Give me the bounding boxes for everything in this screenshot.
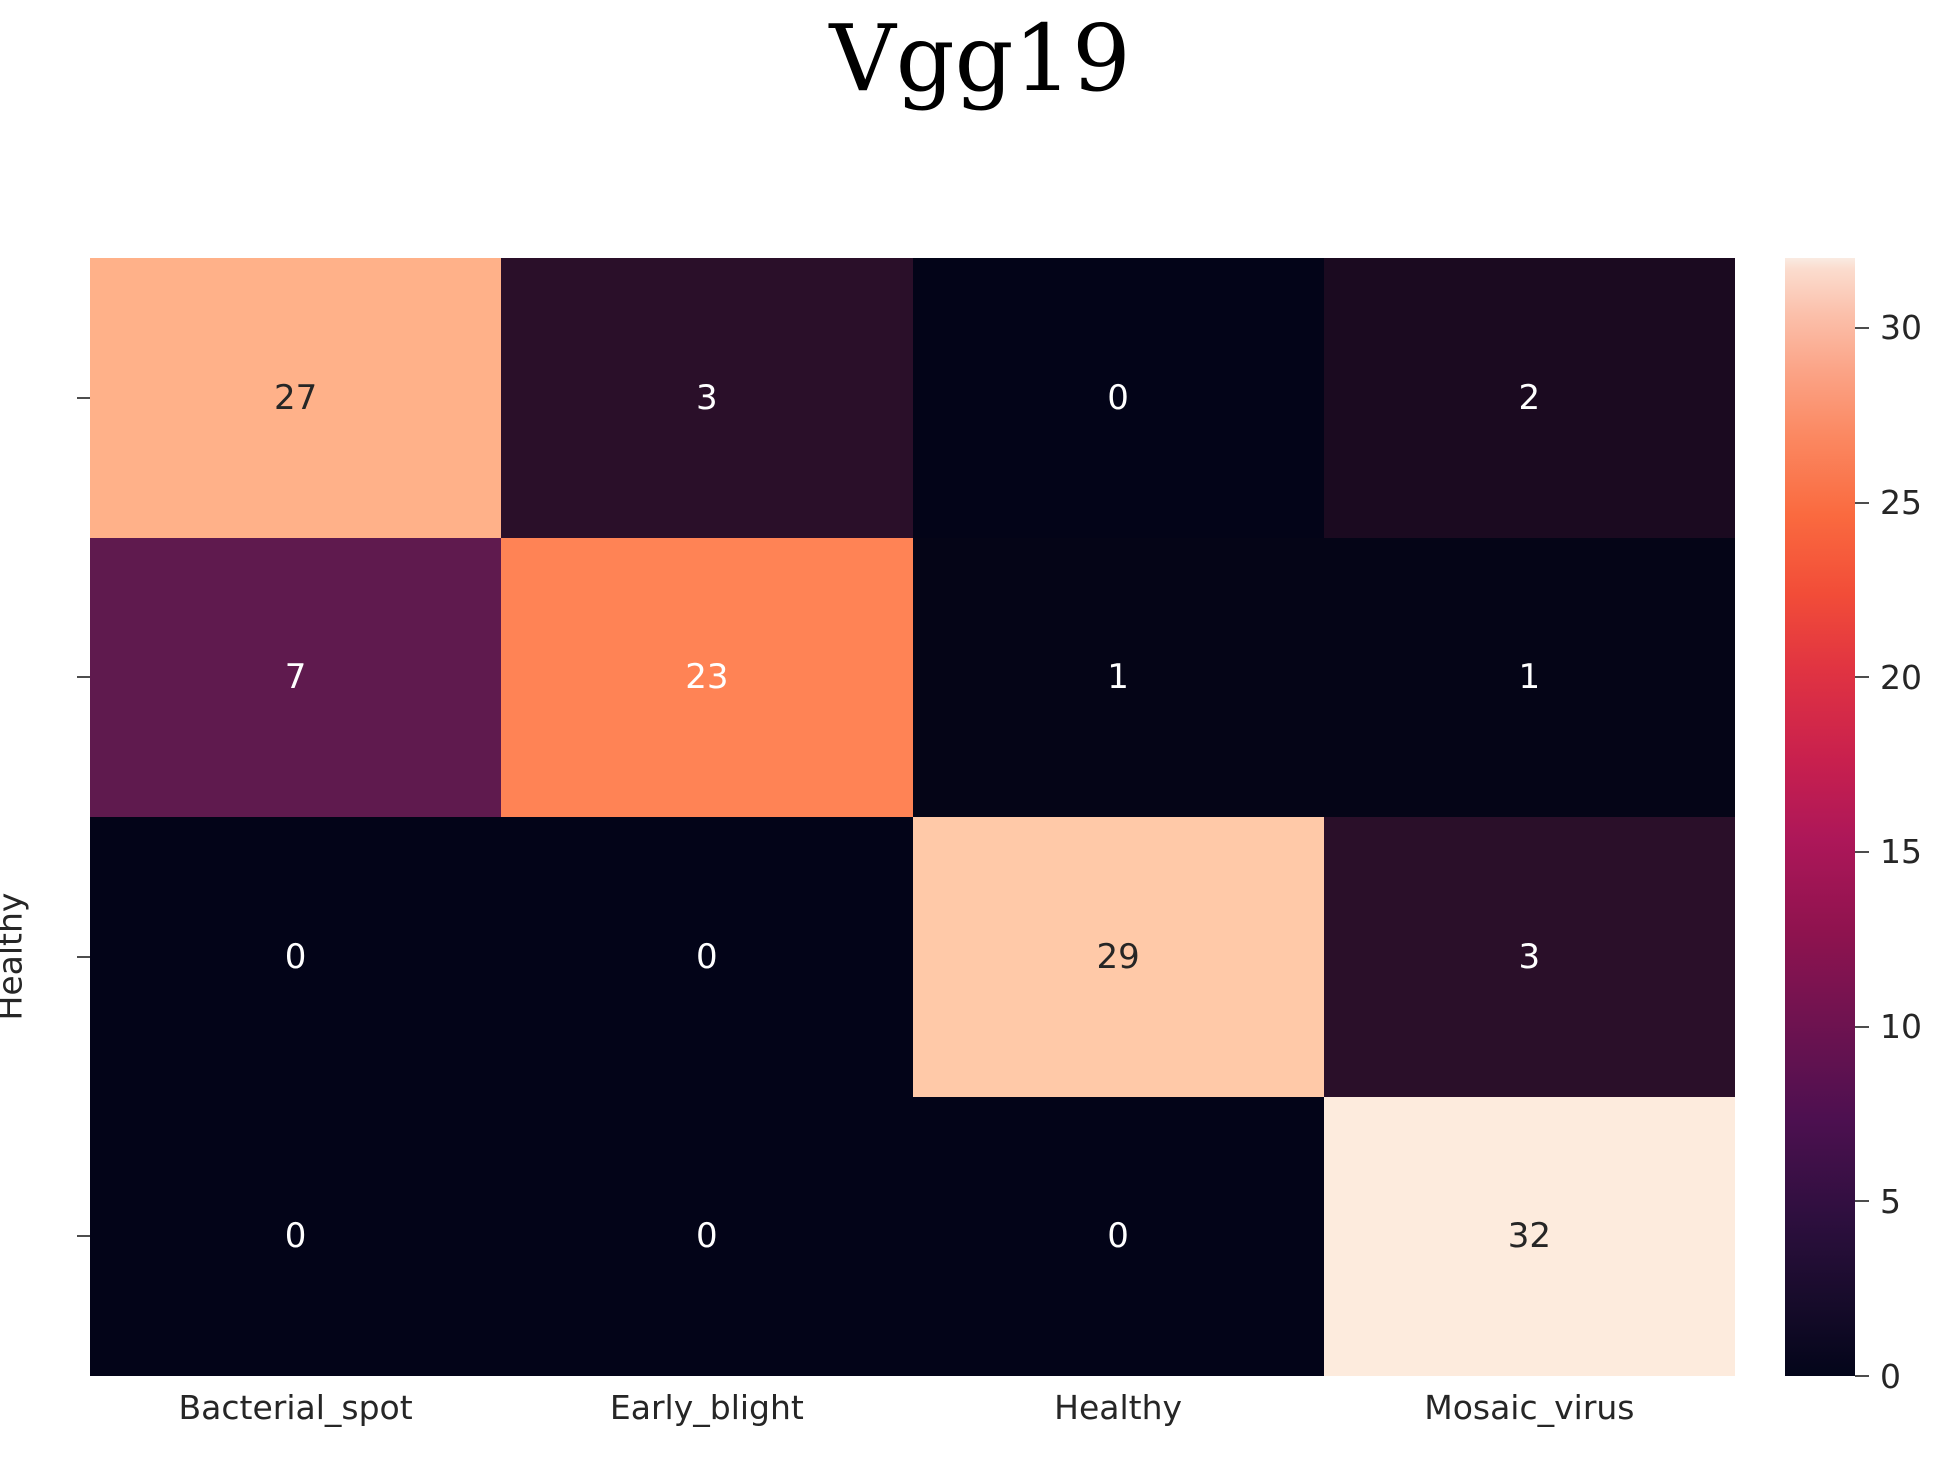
colorbar-tick-mark: [1855, 1026, 1869, 1028]
x-tick-healthy: Healthy: [913, 1376, 1324, 1456]
heatmap-cell: 32: [1324, 1097, 1735, 1377]
colorbar-tick-mark: [1855, 1200, 1869, 1202]
heatmap-cell: 1: [1324, 538, 1735, 818]
heatmap-cell-value: 23: [685, 660, 728, 694]
colorbar-tick-label: 5: [1880, 1185, 1901, 1218]
heatmap-cell-value: 3: [1519, 940, 1541, 974]
y-axis: Bacterial_spotEarly_blightHealthyMosaic_…: [0, 258, 90, 1376]
y-tick-mark: [77, 397, 90, 399]
heatmap-cell-value: 3: [696, 381, 718, 415]
heatmap-cell: 0: [501, 1097, 912, 1377]
heatmap-cell: 0: [501, 817, 912, 1097]
heatmap-grid: 27302723110029300032: [90, 258, 1735, 1376]
heatmap-cell: 23: [501, 538, 912, 818]
x-axis: Bacterial_spotEarly_blightHealthyMosaic_…: [90, 1376, 1735, 1456]
heatmap-cell-value: 32: [1508, 1219, 1551, 1253]
colorbar-tick-mark: [1855, 502, 1869, 504]
x-tick-bacterial_spot: Bacterial_spot: [90, 1376, 501, 1456]
heatmap-cell-value: 0: [696, 940, 718, 974]
x-tick-label: Bacterial_spot: [179, 1388, 413, 1427]
page-title: Vgg19: [0, 8, 1960, 109]
y-tick-healthy: Healthy: [0, 817, 90, 1097]
heatmap-cell-value: 0: [1107, 1219, 1129, 1253]
heatmap-cell-value: 2: [1519, 381, 1541, 415]
heatmap-cell-value: 29: [1096, 940, 1139, 974]
y-tick-bacterial_spot: Bacterial_spot: [0, 258, 90, 538]
y-tick-label: Healthy: [0, 893, 30, 1021]
heatmap-cell: 3: [501, 258, 912, 538]
y-tick-mark: [77, 676, 90, 678]
heatmap-cell-value: 7: [285, 660, 307, 694]
y-tick-mosaic_virus: Mosaic_virus: [0, 1097, 90, 1377]
colorbar-tick-label: 20: [1880, 661, 1922, 694]
figure-canvas: Vgg19 Bacterial_spotEarly_blightHealthyM…: [0, 0, 1960, 1459]
heatmap-cell: 1: [913, 538, 1324, 818]
heatmap-cell-value: 0: [1107, 381, 1129, 415]
colorbar-tick-label: 10: [1880, 1010, 1922, 1043]
heatmap-cell-value: 1: [1107, 660, 1129, 694]
colorbar-tick-label: 25: [1880, 486, 1922, 519]
heatmap-cell: 2: [1324, 258, 1735, 538]
x-tick-label: Early_blight: [610, 1388, 804, 1427]
colorbar-tick-mark: [1855, 851, 1869, 853]
heatmap-cell-value: 27: [274, 381, 317, 415]
y-tick-early_blight: Early_blight: [0, 538, 90, 818]
heatmap-cell: 0: [90, 817, 501, 1097]
colorbar-tick-label: 0: [1880, 1360, 1901, 1393]
heatmap-cell-value: 0: [285, 940, 307, 974]
heatmap-cell: 0: [90, 1097, 501, 1377]
x-tick-label: Mosaic_virus: [1424, 1388, 1634, 1427]
heatmap-cell: 0: [913, 1097, 1324, 1377]
heatmap-cell-value: 0: [696, 1219, 718, 1253]
y-tick-mark: [77, 1235, 90, 1237]
heatmap-cell-value: 0: [285, 1219, 307, 1253]
heatmap-cell: 0: [913, 258, 1324, 538]
x-tick-mosaic_virus: Mosaic_virus: [1324, 1376, 1735, 1456]
colorbar-tick-mark: [1855, 1375, 1869, 1377]
x-tick-early_blight: Early_blight: [501, 1376, 912, 1456]
colorbar-tick-mark: [1855, 327, 1869, 329]
colorbar-tick-mark: [1855, 676, 1869, 678]
colorbar-gradient: [1785, 258, 1855, 1376]
heatmap-cell: 7: [90, 538, 501, 818]
heatmap-cell-value: 1: [1519, 660, 1541, 694]
colorbar-axis: 051015202530: [1855, 258, 1960, 1376]
colorbar-tick-label: 15: [1880, 835, 1922, 868]
y-tick-mark: [77, 956, 90, 958]
heatmap-cell: 29: [913, 817, 1324, 1097]
colorbar-tick-label: 30: [1880, 311, 1922, 344]
x-tick-label: Healthy: [1054, 1388, 1182, 1427]
heatmap-cell: 27: [90, 258, 501, 538]
heatmap-cell: 3: [1324, 817, 1735, 1097]
